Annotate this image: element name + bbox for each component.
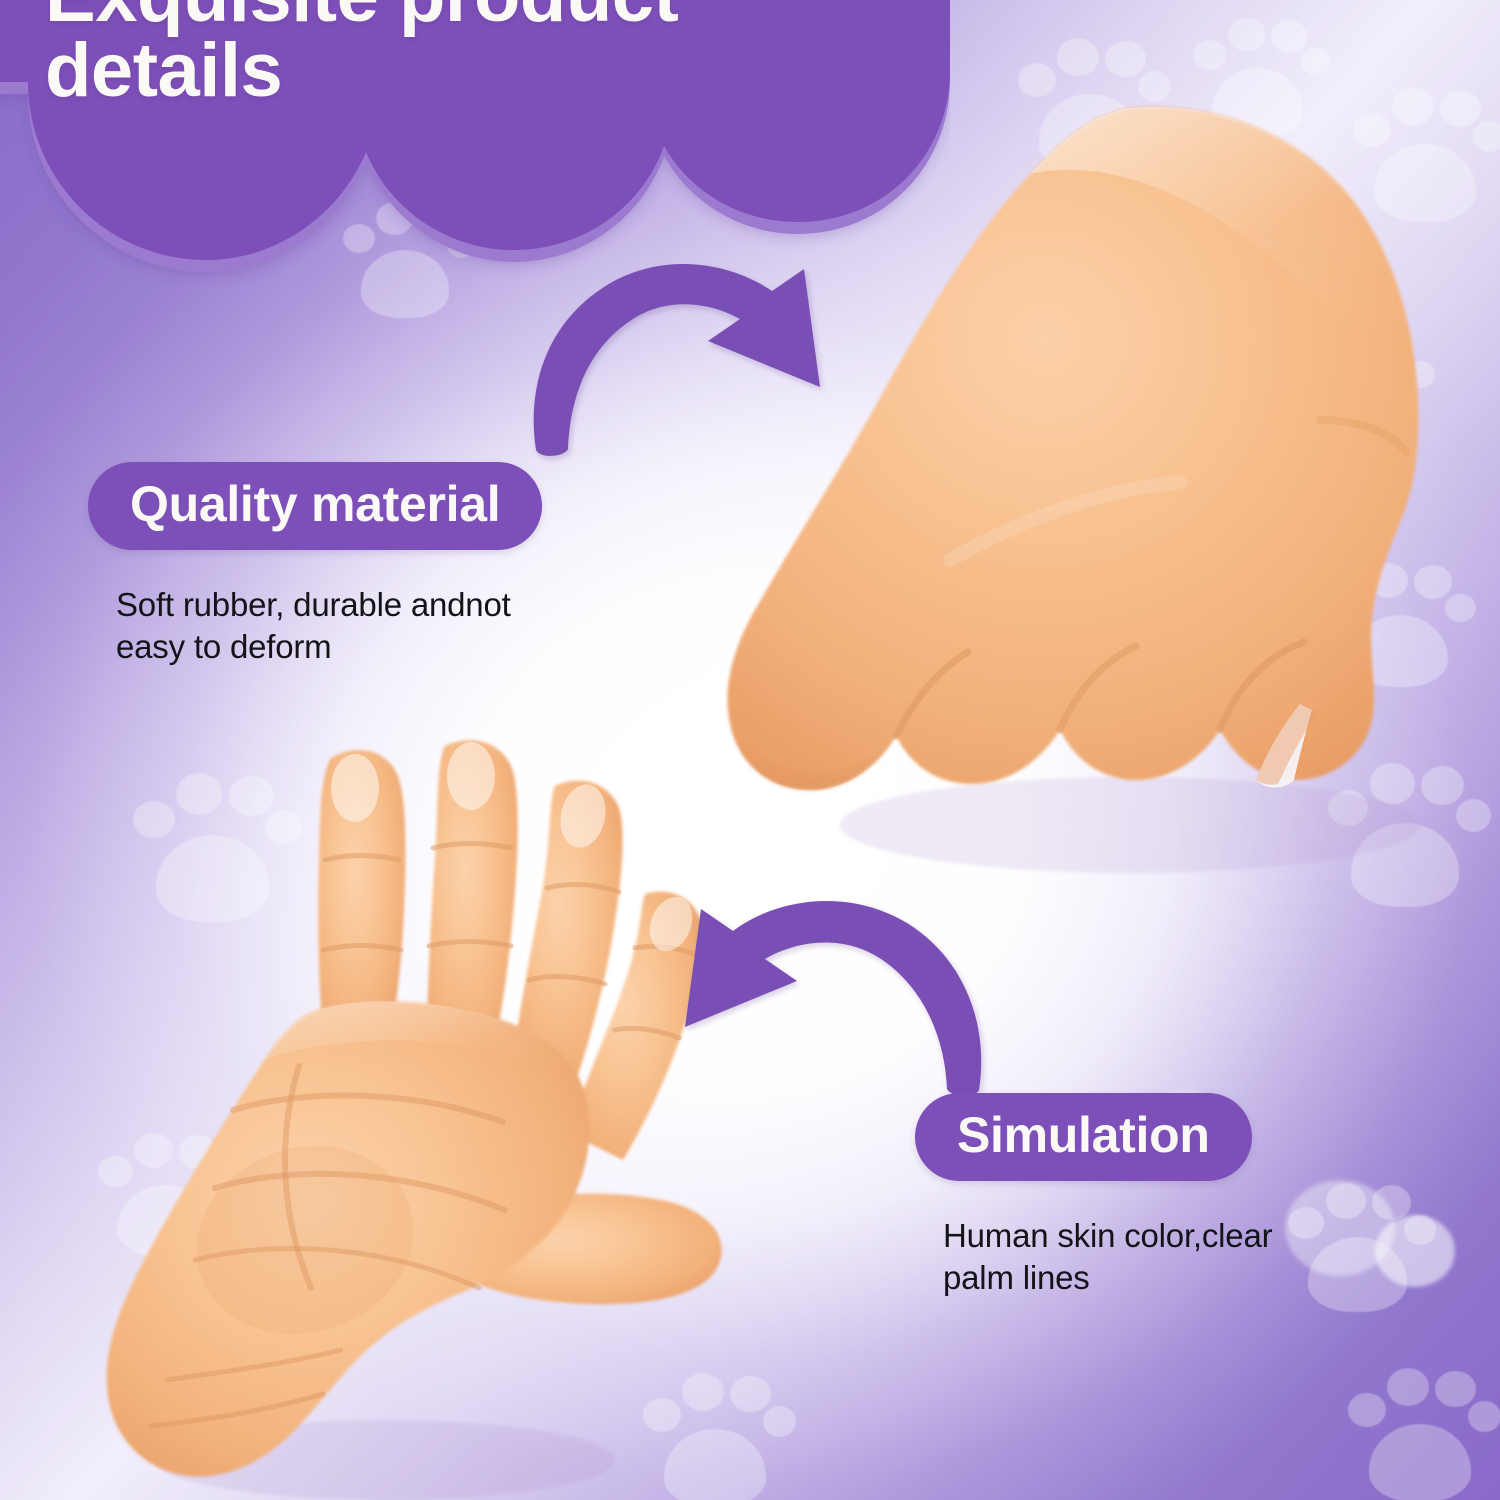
paw-print-icon: [1350, 85, 1500, 225]
feature-description-quality-material: Soft rubber, durable andnot easy to defo…: [88, 584, 542, 668]
paw-print-icon: [1190, 15, 1325, 140]
feature-block-simulation: Simulation Human skin color,clear palm l…: [915, 1093, 1272, 1299]
badge-quality-material[interactable]: Quality material: [88, 462, 542, 550]
hand-open-palm-photo: [55, 740, 745, 1500]
paw-print-icon: [1325, 760, 1485, 910]
product-detail-infographic: Exquisite product details Quality materi…: [0, 0, 1500, 1500]
feature-block-quality-material: Quality material Soft rubber, durable an…: [88, 462, 542, 668]
paw-print-icon: [95, 1130, 235, 1260]
badge-simulation[interactable]: Simulation: [915, 1093, 1252, 1181]
paw-print-icon: [1345, 1365, 1495, 1500]
paw-print-icon: [1330, 560, 1470, 690]
header-cloud-banner: Exquisite product details: [0, 0, 950, 330]
bokeh-highlight: [1285, 1180, 1395, 1276]
paw-print-icon: [1285, 1180, 1430, 1315]
paw-print-icon: [1300, 330, 1430, 450]
paw-print-icon: [130, 770, 295, 925]
paw-print-icon: [640, 1370, 790, 1500]
page-title: Exquisite product details: [45, 0, 905, 108]
feature-description-simulation: Human skin color,clear palm lines: [915, 1215, 1272, 1299]
curved-arrow-left-icon: [655, 885, 995, 1100]
paw-print-icon: [1015, 35, 1165, 175]
bokeh-highlight: [1375, 1215, 1455, 1287]
